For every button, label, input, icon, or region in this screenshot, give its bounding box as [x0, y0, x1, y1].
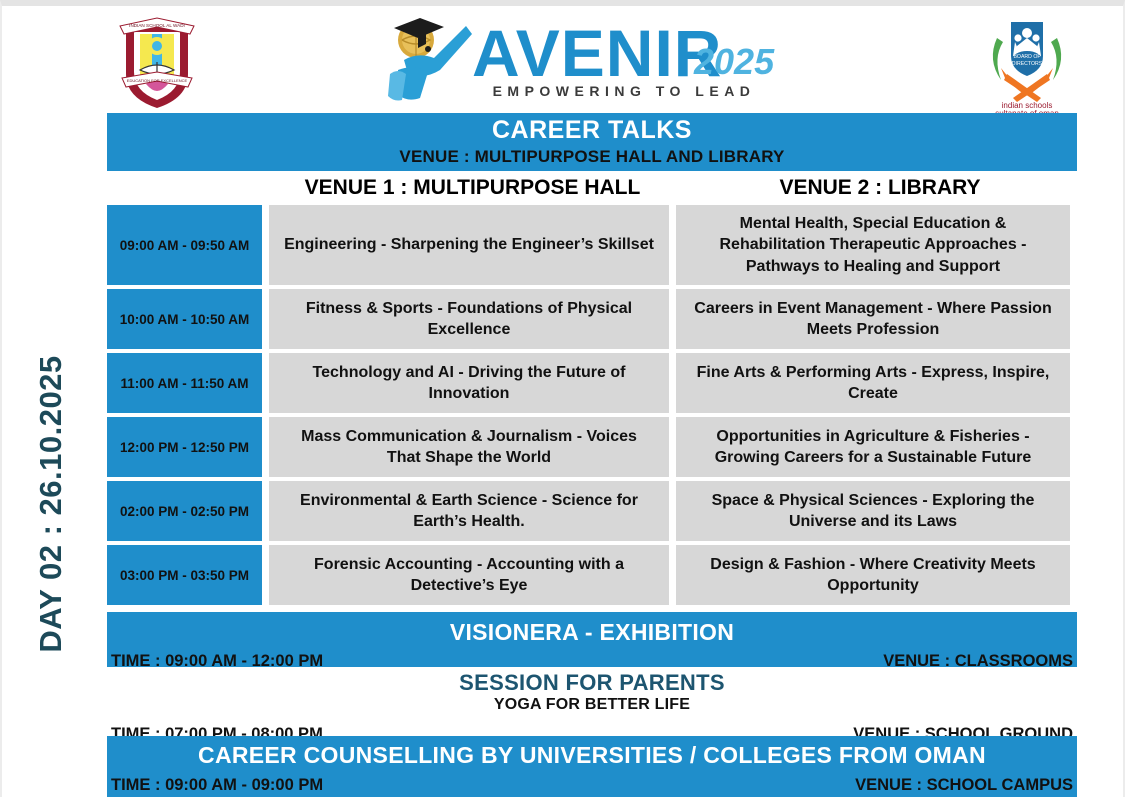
time-slot: 03:00 PM - 03:50 PM	[107, 545, 262, 605]
indian-schools-oman-logo: BOARD OF DIRECTORS indian schools sultan…	[977, 12, 1077, 116]
venue1-session: Mass Communication & Journalism - Voices…	[269, 417, 669, 477]
visionera-title: VISIONERA - EXHIBITION	[107, 619, 1077, 646]
schedule-row: 02:00 PM - 02:50 PM Environmental & Eart…	[107, 481, 1077, 541]
career-talks-venue: VENUE : MULTIPURPOSE HALL AND LIBRARY	[399, 147, 784, 167]
venue2-heading: VENUE 2 : LIBRARY	[683, 176, 1077, 200]
schedule-row: 09:00 AM - 09:50 AM Engineering - Sharpe…	[107, 205, 1077, 285]
parents-subtitle: YOGA FOR BETTER LIFE	[107, 696, 1077, 714]
parents-title: SESSION FOR PARENTS	[107, 670, 1077, 696]
time-slot: 02:00 PM - 02:50 PM	[107, 481, 262, 541]
svg-text:DIRECTORS: DIRECTORS	[1012, 61, 1043, 67]
venue1-session: Forensic Accounting - Accounting with a …	[269, 545, 669, 605]
svg-text:AVENIR: AVENIR	[472, 16, 722, 90]
venue2-session: Careers in Event Management - Where Pass…	[676, 289, 1070, 349]
venue2-session: Opportunities in Agriculture & Fisheries…	[676, 417, 1070, 477]
schedule-row: 03:00 PM - 03:50 PM Forensic Accounting …	[107, 545, 1077, 605]
visionera-section: VISIONERA - EXHIBITION TIME : 09:00 AM -…	[107, 612, 1077, 667]
venue1-session: Environmental & Earth Science - Science …	[269, 481, 669, 541]
venue1-session: Engineering - Sharpening the Engineer’s …	[269, 205, 669, 285]
svg-text:BOARD OF: BOARD OF	[1013, 54, 1040, 60]
counselling-time: TIME : 09:00 AM - 09:00 PM	[111, 776, 323, 795]
counselling-venue: VENUE : SCHOOL CAMPUS	[855, 776, 1073, 795]
schedule-row: 12:00 PM - 12:50 PM Mass Communication &…	[107, 417, 1077, 477]
venue1-session: Technology and AI - Driving the Future o…	[269, 353, 669, 413]
career-talks-title: CAREER TALKS	[492, 117, 692, 143]
time-slot: 12:00 PM - 12:50 PM	[107, 417, 262, 477]
schedule-row: 11:00 AM - 11:50 AM Technology and AI - …	[107, 353, 1077, 413]
career-counselling-section: CAREER COUNSELLING BY UNIVERSITIES / COL…	[107, 736, 1077, 797]
day-label: DAY 02 : 26.10.2025	[33, 269, 69, 739]
venue1-heading: VENUE 1 : MULTIPURPOSE HALL	[270, 176, 675, 200]
event-schedule-page: INDIAN SCHOOL AL WADI EDUCATION FOR EXCE…	[0, 0, 1125, 797]
svg-text:INDIAN SCHOOL AL WADI: INDIAN SCHOOL AL WADI	[129, 23, 185, 28]
counselling-meta: TIME : 09:00 AM - 09:00 PM VENUE : SCHOO…	[107, 776, 1077, 795]
page-header: INDIAN SCHOOL AL WADI EDUCATION FOR EXCE…	[2, 6, 1123, 112]
career-talks-schedule: 09:00 AM - 09:50 AM Engineering - Sharpe…	[107, 205, 1077, 609]
venue2-session: Space & Physical Sciences - Exploring th…	[676, 481, 1070, 541]
avenir-logo: AVENIR 2025 EMPOWERING TO LEAD	[374, 14, 784, 102]
venue2-session: Fine Arts & Performing Arts - Express, I…	[676, 353, 1070, 413]
time-slot: 10:00 AM - 10:50 AM	[107, 289, 262, 349]
schedule-row: 10:00 AM - 10:50 AM Fitness & Sports - F…	[107, 289, 1077, 349]
svg-text:EMPOWERING TO LEAD: EMPOWERING TO LEAD	[493, 83, 756, 99]
venue2-session: Mental Health, Special Education & Rehab…	[676, 205, 1070, 285]
time-slot: 11:00 AM - 11:50 AM	[107, 353, 262, 413]
school-crest-logo: INDIAN SCHOOL AL WADI EDUCATION FOR EXCE…	[112, 12, 202, 110]
parents-session-section: SESSION FOR PARENTS YOGA FOR BETTER LIFE…	[107, 668, 1077, 735]
svg-text:EDUCATION FOR EXCELLENCE: EDUCATION FOR EXCELLENCE	[127, 78, 188, 83]
venue2-session: Design & Fashion - Where Creativity Meet…	[676, 545, 1070, 605]
career-talks-banner: CAREER TALKS VENUE : MULTIPURPOSE HALL A…	[107, 113, 1077, 171]
venue1-session: Fitness & Sports - Foundations of Physic…	[269, 289, 669, 349]
counselling-title: CAREER COUNSELLING BY UNIVERSITIES / COL…	[107, 742, 1077, 769]
svg-text:2025: 2025	[693, 41, 775, 82]
time-slot: 09:00 AM - 09:50 AM	[107, 205, 262, 285]
